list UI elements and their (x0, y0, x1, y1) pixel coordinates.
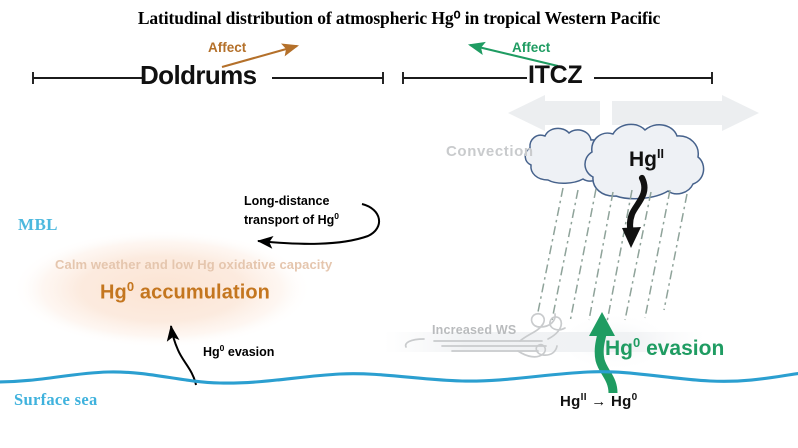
redox-arrow-text: → Hg (587, 393, 632, 410)
convection-arrow-left-icon (508, 95, 600, 131)
hg2-deposition-arrowhead (622, 227, 641, 248)
affect-label-itcz: Affect (512, 40, 550, 55)
surface-sea-label: Surface sea (14, 390, 98, 410)
transport-label: Long-distance transport of Hg0 (244, 194, 354, 228)
cloud-species-label: HgII (629, 147, 664, 172)
increased-ws-label: Increased WS (432, 323, 516, 337)
bracket-icon (33, 72, 712, 84)
accumulation-label: Hg0 accumulation (100, 279, 270, 305)
page-title: Latitudinal distribution of atmospheric … (0, 8, 798, 29)
rain-icon (538, 188, 687, 322)
transport-text: Long-distance transport of Hg (244, 194, 334, 227)
accumulation-species: Hg (100, 282, 127, 304)
ocean-wave-icon (0, 372, 798, 383)
evasion-left-rest: evasion (224, 345, 274, 359)
evasion-left-species: Hg (203, 345, 220, 359)
cloud-species-text: Hg (629, 148, 657, 171)
accumulation-rest: accumulation (134, 282, 270, 304)
evasion-right-species: Hg (605, 337, 633, 360)
figure-canvas: Latitudinal distribution of atmospheric … (0, 0, 798, 448)
calm-weather-label: Calm weather and low Hg oxidative capaci… (55, 257, 332, 272)
redox-from-species: Hg (560, 393, 581, 410)
diagram-vector-layer (0, 0, 798, 448)
evasion-label-left: Hg0 evasion (203, 343, 274, 359)
cloud-species-superscript: II (657, 147, 664, 161)
evasion-right-rest: evasion (640, 337, 724, 360)
cloud-icon (525, 124, 703, 198)
mbl-label: MBL (18, 215, 58, 235)
redox-reaction-label: HgII → Hg0 (560, 392, 638, 410)
evasion-label-right: Hg0 evasion (605, 335, 724, 361)
transport-superscript: 0 (334, 211, 339, 221)
convection-label: Convection (446, 143, 534, 160)
zone-label-itcz: ITCZ (528, 61, 582, 90)
affect-label-doldrums: Affect (208, 40, 246, 55)
redox-to-superscript: 0 (632, 392, 638, 403)
zone-label-doldrums: Doldrums (140, 60, 257, 91)
